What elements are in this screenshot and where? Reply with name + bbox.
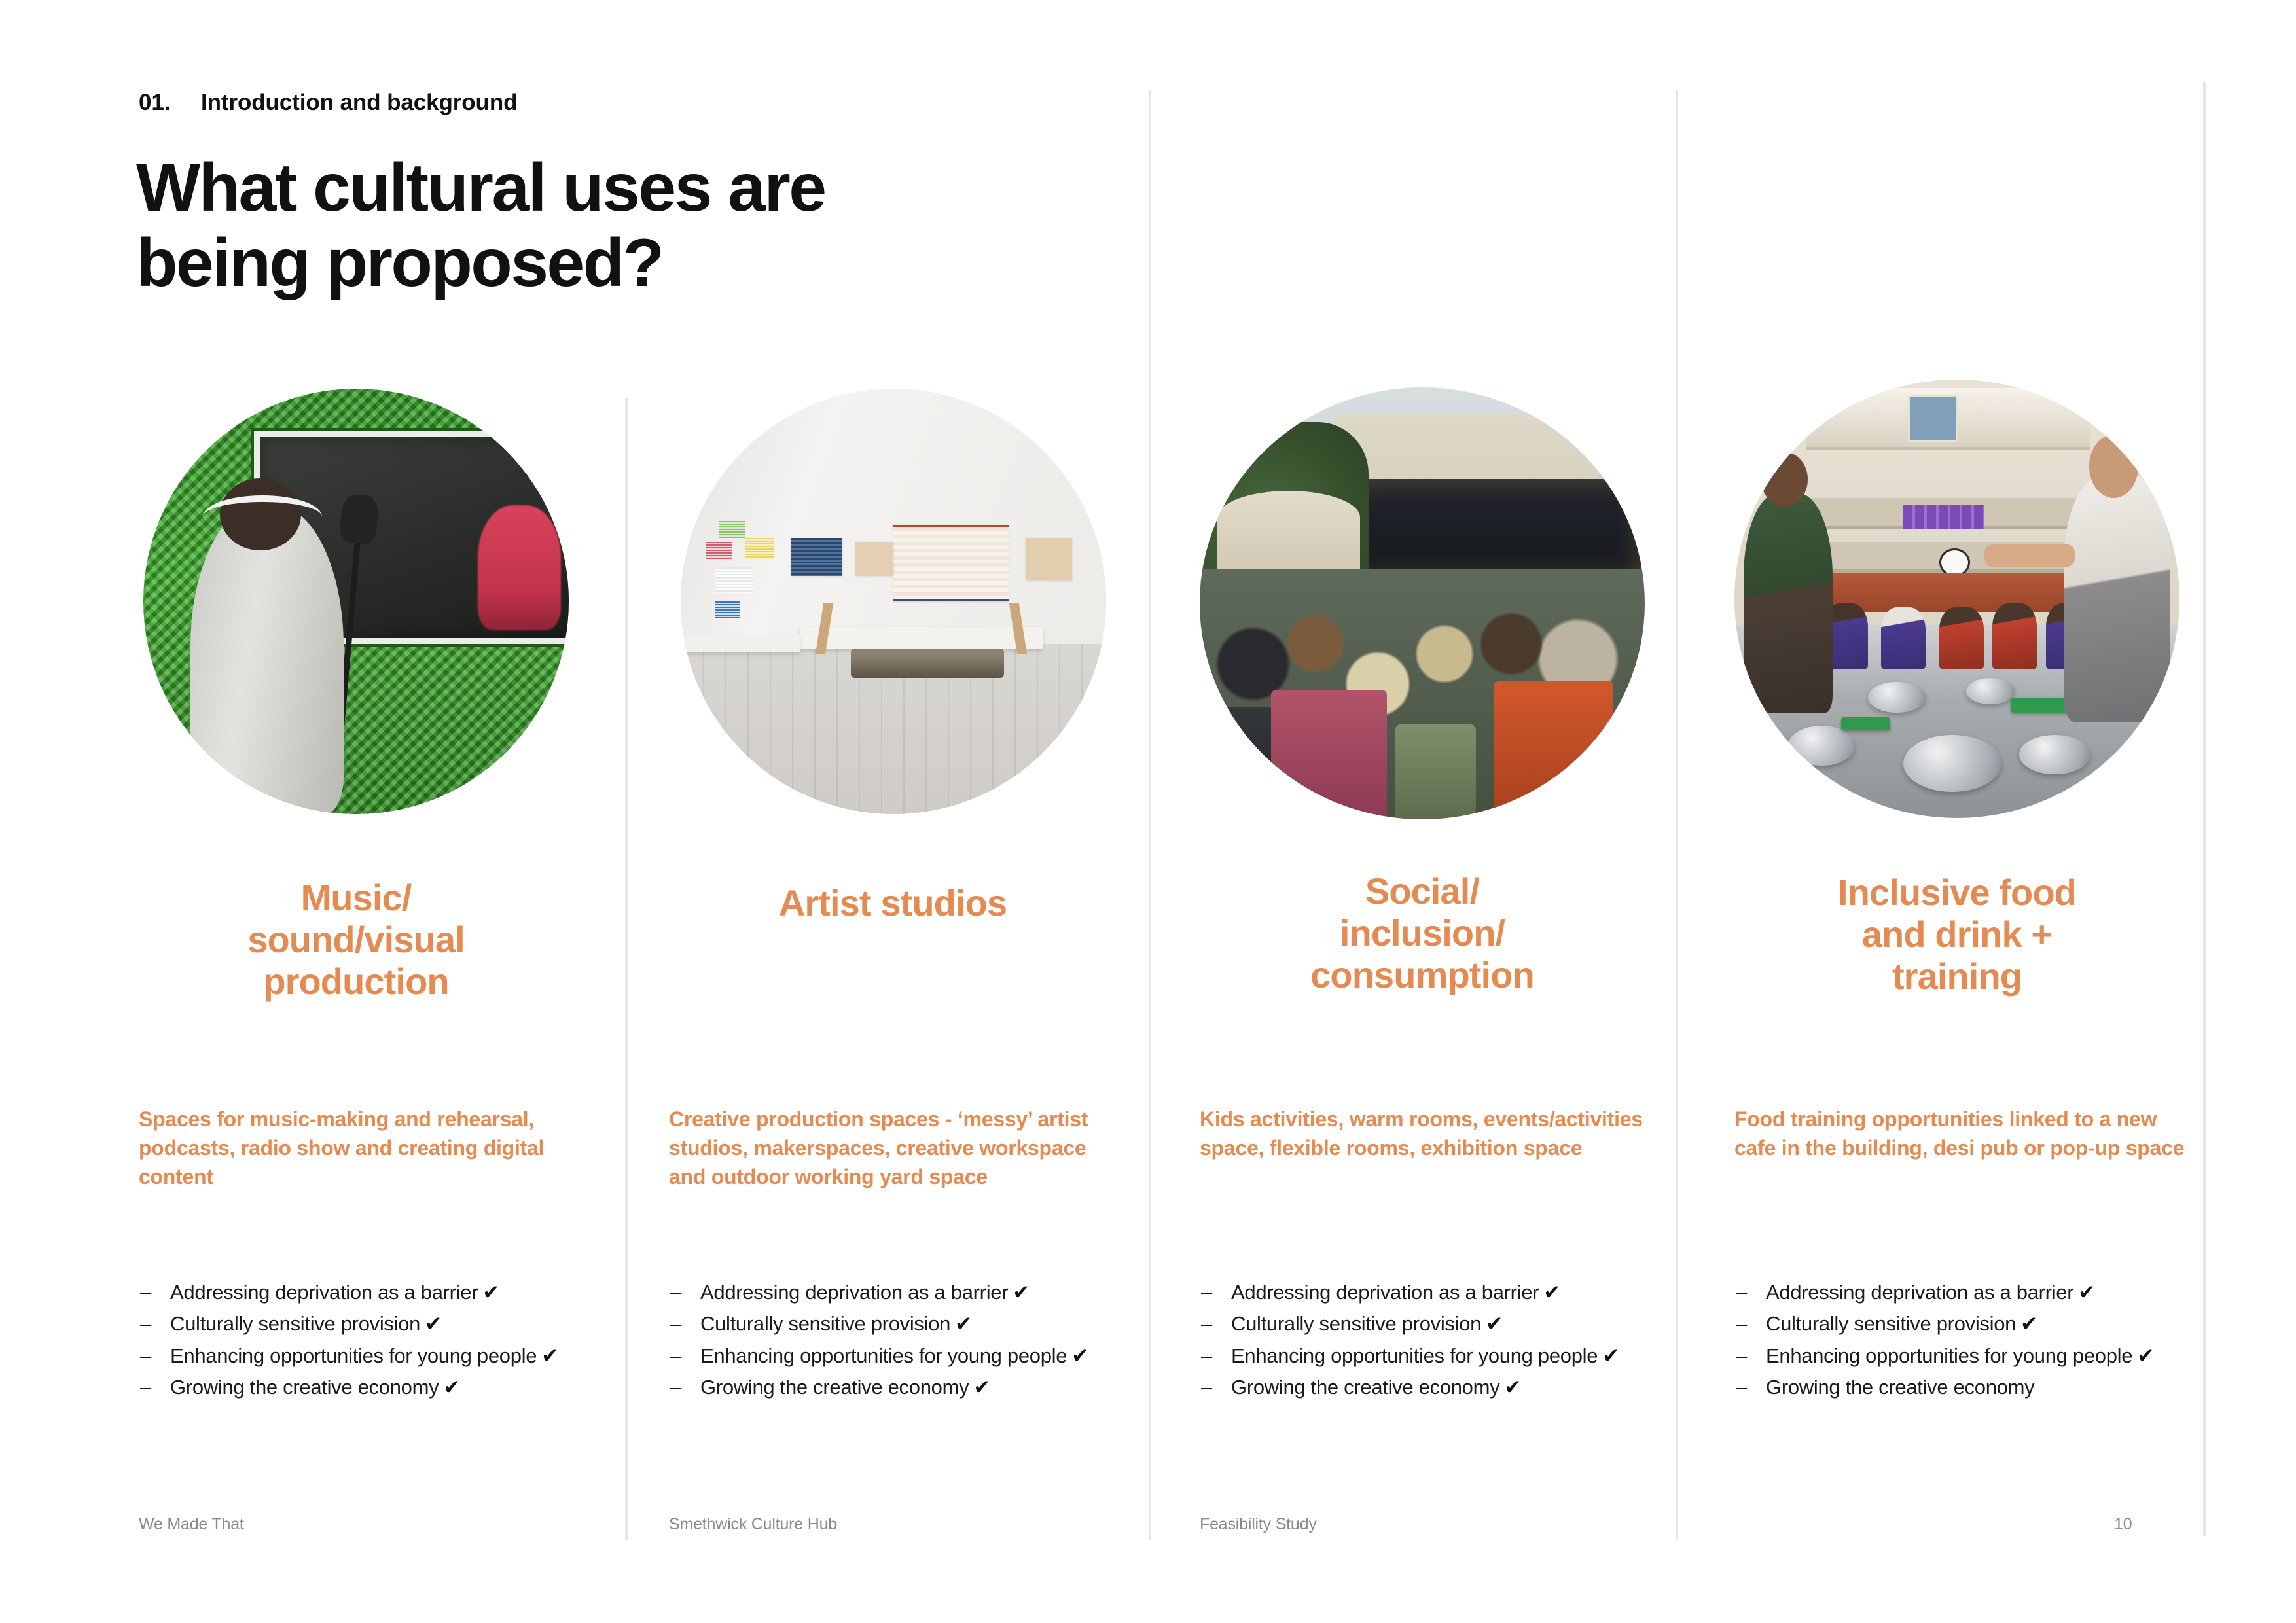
column-title-line: training (1892, 955, 2022, 997)
check-icon: ✔ (969, 1376, 990, 1399)
proposal-columns: Music/ sound/visual production Spaces fo… (0, 0, 2296, 1623)
proposal-column-artist-studios: Artist studios Creative production space… (669, 0, 1166, 1623)
check-icon: ✔ (439, 1376, 460, 1399)
list-item: –Addressing deprivation as a barrier✔ (139, 1277, 597, 1307)
column-lead-text: Creative production spaces - ‘messy’ art… (669, 1105, 1121, 1191)
benefit-label: Addressing deprivation as a barrier (700, 1281, 1008, 1304)
dash-bullet: – (1736, 1277, 1747, 1307)
dash-bullet: – (1201, 1372, 1212, 1402)
list-item: –Culturally sensitive provision✔ (1200, 1309, 1658, 1338)
benefit-label: Enhancing opportunities for young people (1766, 1344, 2132, 1367)
column-title-line: and drink + (1862, 914, 2052, 955)
check-icon: ✔ (1598, 1344, 1619, 1367)
dash-bullet: – (670, 1277, 681, 1307)
check-icon: ✔ (478, 1281, 499, 1304)
benefit-label: Enhancing opportunities for young people (700, 1344, 1067, 1367)
dash-bullet: – (670, 1372, 681, 1402)
benefit-label: Culturally sensitive provision (700, 1312, 950, 1335)
column-benefit-list: –Addressing deprivation as a barrier✔ –C… (1200, 1277, 1658, 1404)
check-icon: ✔ (420, 1312, 442, 1335)
footer-document: Feasibility Study (1200, 1515, 1317, 1534)
list-item: –Addressing deprivation as a barrier✔ (669, 1277, 1127, 1307)
column-title-line: sound/visual (247, 919, 465, 960)
column-lead-text: Kids activities, warm rooms, events/acti… (1200, 1105, 1651, 1162)
proposal-column-inclusive-food: Inclusive food and drink + training Food… (1734, 0, 2232, 1623)
benefit-label: Culturally sensitive provision (170, 1312, 420, 1335)
list-item: –Culturally sensitive provision✔ (139, 1309, 597, 1338)
check-icon: ✔ (1499, 1376, 1521, 1399)
footer-project: Smethwick Culture Hub (669, 1515, 837, 1534)
check-icon: ✔ (1481, 1312, 1503, 1335)
benefit-label: Culturally sensitive provision (1231, 1312, 1481, 1335)
check-icon: ✔ (950, 1312, 972, 1335)
benefit-label: Addressing deprivation as a barrier (1766, 1281, 2073, 1304)
benefit-label: Addressing deprivation as a barrier (170, 1281, 478, 1304)
list-item: –Growing the creative economy (1734, 1372, 2193, 1402)
slide-page: 01.Introduction and background What cult… (0, 0, 2296, 1623)
dash-bullet: – (670, 1341, 681, 1370)
list-item: –Growing the creative economy✔ (669, 1372, 1127, 1402)
proposal-column-social-inclusion: Social/ inclusion/ consumption Kids acti… (1200, 0, 1697, 1623)
list-item: –Culturally sensitive provision✔ (669, 1309, 1127, 1338)
benefit-label: Addressing deprivation as a barrier (1231, 1281, 1539, 1304)
list-item: –Growing the creative economy✔ (139, 1372, 597, 1402)
list-item: –Addressing deprivation as a barrier✔ (1734, 1277, 2193, 1307)
list-item: –Enhancing opportunities for young peopl… (1734, 1341, 2193, 1370)
column-title-line: Inclusive food (1838, 872, 2076, 913)
benefit-label: Enhancing opportunities for young people (170, 1344, 537, 1367)
check-icon: ✔ (1008, 1281, 1030, 1304)
column-benefit-list: –Addressing deprivation as a barrier✔ –C… (669, 1277, 1127, 1404)
dash-bullet: – (140, 1341, 151, 1370)
column-title-line: Artist studios (779, 882, 1007, 923)
column-title-line: inclusion/ (1340, 912, 1505, 954)
check-icon: ✔ (537, 1344, 558, 1367)
dash-bullet: – (1736, 1309, 1747, 1338)
dash-bullet: – (1201, 1309, 1212, 1338)
list-item: –Addressing deprivation as a barrier✔ (1200, 1277, 1658, 1307)
dash-bullet: – (1736, 1341, 1747, 1370)
cooking-class-photo (1734, 380, 2179, 818)
footer-practice: We Made That (139, 1515, 244, 1534)
dash-bullet: – (140, 1372, 151, 1402)
column-title-line: Social/ (1365, 870, 1479, 912)
benefit-label: Growing the creative economy (170, 1376, 439, 1399)
column-lead-text: Food training opportunities linked to a … (1734, 1105, 2186, 1162)
dash-bullet: – (140, 1277, 151, 1307)
column-benefit-list: –Addressing deprivation as a barrier✔ –C… (1734, 1277, 2193, 1404)
column-lead-text: Spaces for music-making and rehearsal, p… (139, 1105, 590, 1191)
check-icon: ✔ (2132, 1344, 2154, 1367)
footer-page-number: 10 (2114, 1515, 2132, 1534)
benefit-label: Culturally sensitive provision (1766, 1312, 2016, 1335)
column-benefit-list: –Addressing deprivation as a barrier✔ –C… (139, 1277, 597, 1404)
music-recording-studio-photo (143, 389, 569, 814)
check-icon: ✔ (2016, 1312, 2037, 1335)
column-title-line: production (263, 961, 448, 1002)
dash-bullet: – (670, 1309, 681, 1338)
list-item: –Enhancing opportunities for young peopl… (669, 1341, 1127, 1370)
list-item: –Growing the creative economy✔ (1200, 1372, 1658, 1402)
check-icon: ✔ (1539, 1281, 1560, 1304)
dash-bullet: – (1201, 1341, 1212, 1370)
column-title: Social/ inclusion/ consumption (1200, 870, 1645, 995)
benefit-label: Growing the creative economy (1231, 1376, 1499, 1399)
benefit-label: Growing the creative economy (1766, 1376, 2034, 1399)
check-icon: ✔ (2073, 1281, 2095, 1304)
benefit-label: Enhancing opportunities for young people (1231, 1344, 1598, 1367)
dash-bullet: – (1201, 1277, 1212, 1307)
dash-bullet: – (140, 1309, 151, 1338)
column-title: Inclusive food and drink + training (1734, 872, 2179, 997)
proposal-column-music: Music/ sound/visual production Spaces fo… (139, 0, 636, 1623)
benefit-label: Growing the creative economy (700, 1376, 969, 1399)
check-icon: ✔ (1067, 1344, 1088, 1367)
column-title: Artist studios (677, 882, 1109, 924)
column-title-line: consumption (1310, 954, 1534, 995)
outdoor-event-audience-photo (1200, 387, 1645, 819)
list-item: –Culturally sensitive provision✔ (1734, 1309, 2193, 1338)
artist-studio-photo (681, 389, 1106, 814)
column-title-line: Music/ (301, 877, 412, 918)
list-item: –Enhancing opportunities for young peopl… (1200, 1341, 1658, 1370)
column-title: Music/ sound/visual production (140, 877, 572, 1002)
list-item: –Enhancing opportunities for young peopl… (139, 1341, 597, 1370)
dash-bullet: – (1736, 1372, 1747, 1402)
